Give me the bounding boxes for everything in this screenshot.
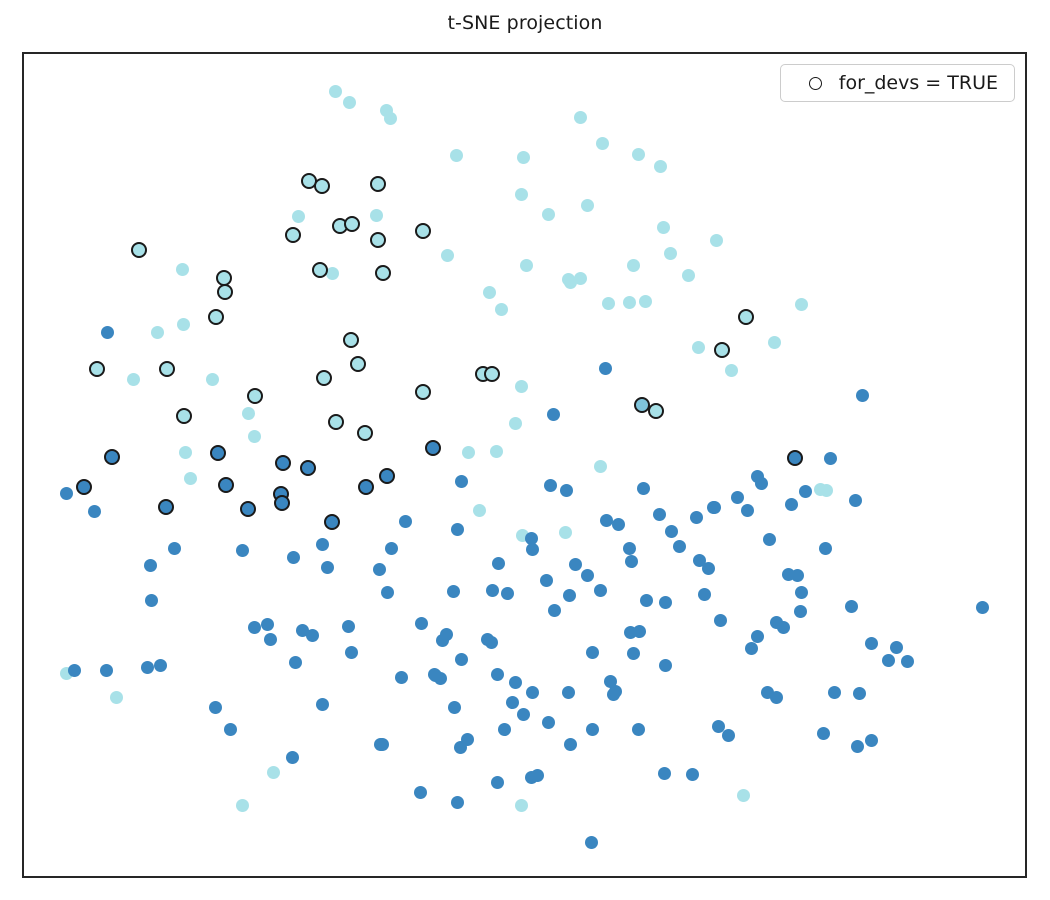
scatter-point [144, 559, 157, 572]
scatter-point [569, 558, 582, 571]
scatter-point [314, 178, 330, 194]
scatter-point [357, 425, 373, 441]
scatter-point [849, 494, 862, 507]
scatter-point [708, 501, 721, 514]
scatter-point [206, 373, 219, 386]
scatter-point [751, 630, 764, 643]
scatter-point [515, 188, 528, 201]
scatter-point [343, 96, 356, 109]
scatter-point [267, 766, 280, 779]
scatter-point [501, 587, 514, 600]
scatter-point [845, 600, 858, 613]
scatter-point [343, 332, 359, 348]
scatter-point [274, 495, 290, 511]
scatter-point [865, 637, 878, 650]
scatter-point [795, 298, 808, 311]
scatter-point [594, 460, 607, 473]
scatter-point [448, 701, 461, 714]
scatter-point [657, 221, 670, 234]
scatter-point [158, 499, 174, 515]
scatter-point [275, 455, 291, 471]
scatter-point [370, 232, 386, 248]
scatter-point [415, 617, 428, 630]
scatter-point [890, 641, 903, 654]
scatter-point [856, 389, 869, 402]
scatter-point [819, 542, 832, 555]
scatter-point [451, 796, 464, 809]
scatter-point [68, 664, 81, 677]
scatter-point [586, 723, 599, 736]
scatter-point [702, 562, 715, 575]
scatter-point [324, 514, 340, 530]
scatter-point [342, 620, 355, 633]
scatter-point [581, 199, 594, 212]
scatter-point [542, 208, 555, 221]
scatter-point [455, 475, 468, 488]
scatter-point [722, 729, 735, 742]
scatter-point [415, 384, 431, 400]
scatter-point [725, 364, 738, 377]
scatter-point [316, 698, 329, 711]
scatter-point [248, 430, 261, 443]
scatter-point [686, 768, 699, 781]
scatter-point [285, 227, 301, 243]
scatter-point [540, 574, 553, 587]
scatter-point [770, 616, 783, 629]
scatter-point [483, 286, 496, 299]
scatter-point [399, 515, 412, 528]
scatter-point [451, 523, 464, 536]
scatter-point [563, 589, 576, 602]
scatter-point [799, 485, 812, 498]
scatter-point [208, 309, 224, 325]
scatter-point [531, 769, 544, 782]
tsne-scatter-figure: t-SNE projection for_devs = TRUE [0, 0, 1050, 900]
scatter-point [865, 734, 878, 747]
scatter-point [731, 491, 744, 504]
scatter-point [594, 584, 607, 597]
scatter-point [738, 309, 754, 325]
scatter-point [434, 672, 447, 685]
scatter-point [379, 468, 395, 484]
scatter-point [623, 296, 636, 309]
scatter-point [664, 247, 677, 260]
legend[interactable]: for_devs = TRUE [780, 64, 1015, 102]
scatter-point [264, 633, 277, 646]
scatter-point [710, 234, 723, 247]
scatter-point [509, 417, 522, 430]
scatter-point [768, 336, 781, 349]
scatter-point [562, 686, 575, 699]
scatter-point [564, 738, 577, 751]
scatter-point [574, 111, 587, 124]
scatter-point [350, 356, 366, 372]
scatter-point [441, 249, 454, 262]
scatter-point [495, 303, 508, 316]
scatter-point [454, 741, 467, 754]
scatter-point [794, 605, 807, 618]
scatter-point [560, 484, 573, 497]
scatter-point [414, 786, 427, 799]
scatter-point [639, 295, 652, 308]
scatter-point [145, 594, 158, 607]
scatter-point [623, 542, 636, 555]
scatter-point [625, 555, 638, 568]
scatter-point [741, 504, 754, 517]
legend-item-label: for_devs = TRUE [839, 72, 998, 94]
scatter-point [659, 596, 672, 609]
scatter-point [131, 242, 147, 258]
scatter-point [547, 408, 560, 421]
scatter-point [440, 628, 453, 641]
scatter-point [328, 414, 344, 430]
scatter-point [376, 738, 389, 751]
scatter-point [240, 501, 256, 517]
scatter-point [159, 361, 175, 377]
scatter-point [168, 542, 181, 555]
page-title: t-SNE projection [0, 12, 1050, 34]
legend-marker-cell [793, 77, 839, 90]
scatter-point [506, 696, 519, 709]
scatter-point [110, 691, 123, 704]
scatter-point [101, 326, 114, 339]
scatter-point [853, 687, 866, 700]
scatter-point [714, 614, 727, 627]
scatter-points-layer [24, 54, 1025, 876]
scatter-point [248, 621, 261, 634]
scatter-point [491, 776, 504, 789]
scatter-point [820, 484, 833, 497]
scatter-point [344, 216, 360, 232]
scatter-point [627, 647, 640, 660]
scatter-point [585, 836, 598, 849]
scatter-point [60, 487, 73, 500]
scatter-point [586, 646, 599, 659]
scatter-point [88, 505, 101, 518]
scatter-point [490, 445, 503, 458]
scatter-point [224, 723, 237, 736]
scatter-point [176, 263, 189, 276]
scatter-point [515, 380, 528, 393]
scatter-point [455, 653, 468, 666]
scatter-point [104, 449, 120, 465]
scatter-point [600, 514, 613, 527]
scatter-point [564, 276, 577, 289]
scatter-point [770, 691, 783, 704]
scatter-point [976, 601, 989, 614]
scatter-point [306, 629, 319, 642]
scatter-point [218, 477, 234, 493]
scatter-point [658, 767, 671, 780]
scatter-point [217, 284, 233, 300]
scatter-point [824, 452, 837, 465]
scatter-point [559, 526, 572, 539]
scatter-point [261, 618, 274, 631]
scatter-point [782, 568, 795, 581]
scatter-point [698, 588, 711, 601]
scatter-point [633, 625, 646, 638]
scatter-point [481, 633, 494, 646]
scatter-point [473, 504, 486, 517]
scatter-point [484, 366, 500, 382]
scatter-point [300, 460, 316, 476]
scatter-point [665, 525, 678, 538]
scatter-point [462, 446, 475, 459]
scatter-point [544, 479, 557, 492]
scatter-point [151, 326, 164, 339]
scatter-point [492, 557, 505, 570]
scatter-point [517, 151, 530, 164]
scatter-point [176, 408, 192, 424]
scatter-point [515, 799, 528, 812]
scatter-point [154, 659, 167, 672]
scatter-point [785, 498, 798, 511]
scatter-point [286, 751, 299, 764]
scatter-point [627, 259, 640, 272]
scatter-point [450, 149, 463, 162]
scatter-point [548, 604, 561, 617]
scatter-point [517, 708, 530, 721]
scatter-point [653, 508, 666, 521]
scatter-point [632, 148, 645, 161]
scatter-point [602, 297, 615, 310]
scatter-point [787, 450, 803, 466]
scatter-point [321, 561, 334, 574]
scatter-point [447, 585, 460, 598]
scatter-point [755, 477, 768, 490]
scatter-point [901, 655, 914, 668]
scatter-point [209, 701, 222, 714]
scatter-point [375, 265, 391, 281]
scatter-point [373, 563, 386, 576]
scatter-point [509, 676, 522, 689]
scatter-point [287, 551, 300, 564]
scatter-point [385, 542, 398, 555]
scatter-point [141, 661, 154, 674]
scatter-point [345, 646, 358, 659]
scatter-point [632, 723, 645, 736]
scatter-point [179, 446, 192, 459]
scatter-point [640, 594, 653, 607]
scatter-point [648, 403, 664, 419]
scatter-point [425, 440, 441, 456]
scatter-point [525, 532, 538, 545]
open-circle-icon [809, 77, 822, 90]
scatter-point [292, 210, 305, 223]
scatter-point [370, 176, 386, 192]
scatter-point [596, 137, 609, 150]
scatter-point [851, 740, 864, 753]
scatter-point [659, 659, 672, 672]
plot-area: for_devs = TRUE [22, 52, 1027, 878]
scatter-point [358, 479, 374, 495]
scatter-point [236, 799, 249, 812]
scatter-point [498, 723, 511, 736]
scatter-point [692, 341, 705, 354]
scatter-point [526, 686, 539, 699]
scatter-point [486, 584, 499, 597]
scatter-point [745, 642, 758, 655]
scatter-point [100, 664, 113, 677]
scatter-point [312, 262, 328, 278]
scatter-point [76, 479, 92, 495]
scatter-point [604, 675, 617, 688]
scatter-point [637, 482, 650, 495]
scatter-point [542, 716, 555, 729]
scatter-point [654, 160, 667, 173]
scatter-point [316, 370, 332, 386]
scatter-point [612, 518, 625, 531]
scatter-point [682, 269, 695, 282]
scatter-point [491, 668, 504, 681]
scatter-point [242, 407, 255, 420]
scatter-point [381, 586, 394, 599]
scatter-point [177, 318, 190, 331]
scatter-point [395, 671, 408, 684]
scatter-point [384, 112, 397, 125]
scatter-point [415, 223, 431, 239]
scatter-point [882, 654, 895, 667]
scatter-point [127, 373, 140, 386]
scatter-point [737, 789, 750, 802]
scatter-point [520, 259, 533, 272]
scatter-point [89, 361, 105, 377]
scatter-point [184, 472, 197, 485]
scatter-point [828, 686, 841, 699]
scatter-point [316, 538, 329, 551]
scatter-point [289, 656, 302, 669]
scatter-point [329, 85, 342, 98]
scatter-point [247, 388, 263, 404]
scatter-point [673, 540, 686, 553]
scatter-point [690, 511, 703, 524]
scatter-point [599, 362, 612, 375]
scatter-point [763, 533, 776, 546]
scatter-point [581, 569, 594, 582]
scatter-point [210, 445, 226, 461]
scatter-point [370, 209, 383, 222]
scatter-point [714, 342, 730, 358]
scatter-point [795, 586, 808, 599]
scatter-point [236, 544, 249, 557]
scatter-point [817, 727, 830, 740]
